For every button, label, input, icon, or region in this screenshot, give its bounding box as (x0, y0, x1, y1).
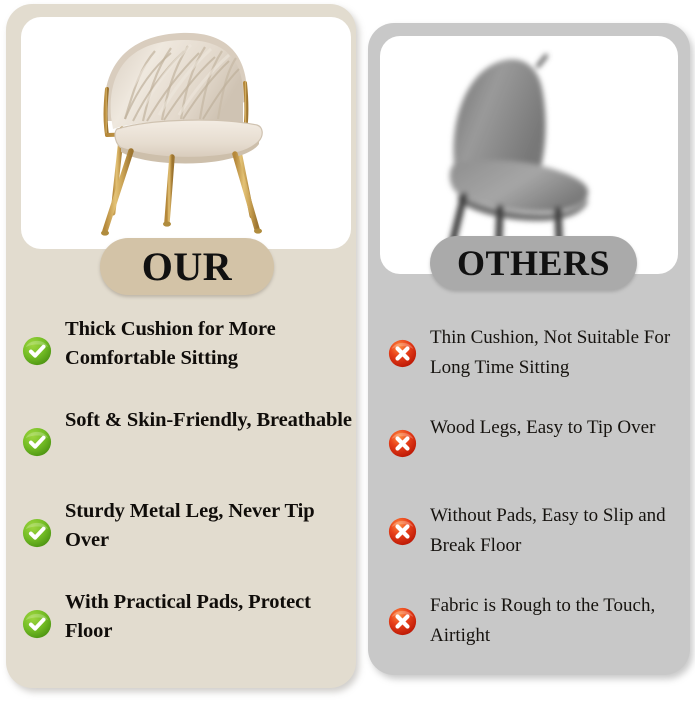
green-check-icon (22, 336, 52, 366)
green-check-icon (22, 609, 52, 639)
list-item-label: Wood Legs, Easy to Tip Over (430, 413, 655, 443)
list-item-label: Soft & Skin-Friendly, Breathable (65, 406, 352, 435)
others-badge: OTHERS (430, 236, 637, 290)
red-x-icon (388, 517, 417, 546)
list-item: Soft & Skin-Friendly, Breathable (22, 406, 356, 472)
list-item-label: With Practical Pads, Protect Floor (65, 588, 356, 646)
list-item: Without Pads, Easy to Slip and Break Flo… (388, 501, 680, 561)
our-product-image-card (21, 17, 351, 249)
others-feature-list: Thin Cushion, Not Suitable For Long Time… (388, 323, 680, 681)
cream-woven-back-accent-chair-gold-legs-image (21, 17, 351, 249)
our-badge: OUR (100, 238, 274, 295)
red-x-icon (388, 429, 417, 458)
list-item: Thick Cushion for More Comfortable Sitti… (22, 315, 356, 381)
our-feature-list: Thick Cushion for More Comfortable Sitti… (22, 315, 356, 679)
green-check-icon (22, 518, 52, 548)
list-item: Thin Cushion, Not Suitable For Long Time… (388, 323, 680, 383)
list-item: Fabric is Rough to the Touch, Airtight (388, 591, 680, 651)
list-item-label: Thin Cushion, Not Suitable For Long Time… (430, 323, 680, 383)
list-item-label: Thick Cushion for More Comfortable Sitti… (65, 315, 356, 373)
comparison-infographic: OUR (0, 0, 695, 704)
list-item: Sturdy Metal Leg, Never Tip Over (22, 497, 356, 563)
green-check-icon (22, 427, 52, 457)
list-item-label: Sturdy Metal Leg, Never Tip Over (65, 497, 356, 555)
list-item: With Practical Pads, Protect Floor (22, 588, 356, 654)
list-item: Wood Legs, Easy to Tip Over (388, 413, 680, 471)
list-item-label: Fabric is Rough to the Touch, Airtight (430, 591, 680, 651)
list-item-label: Without Pads, Easy to Slip and Break Flo… (430, 501, 680, 561)
others-panel: OTHERS (368, 23, 690, 675)
red-x-icon (388, 339, 417, 368)
our-panel: OUR (6, 4, 356, 688)
red-x-icon (388, 607, 417, 636)
